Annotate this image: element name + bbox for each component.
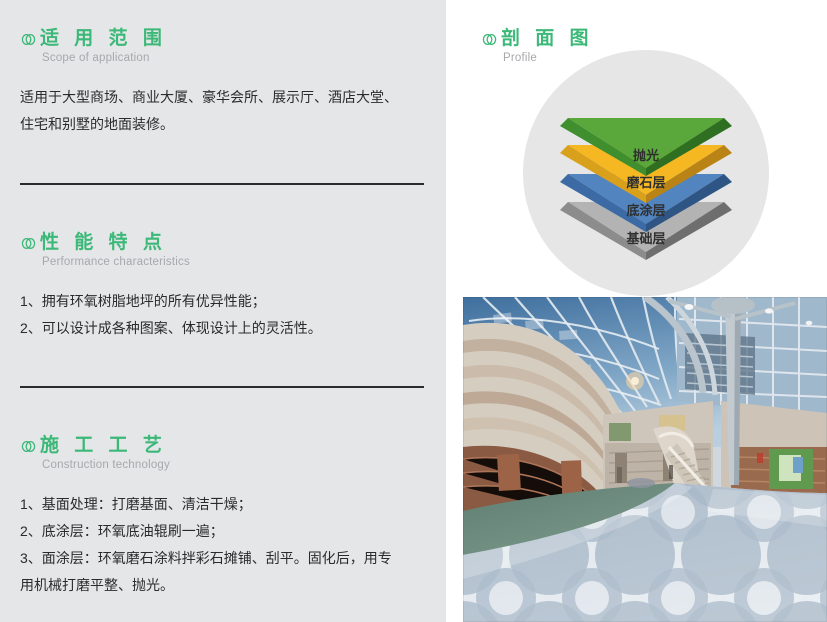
overlapping-rings-icon xyxy=(20,235,37,252)
layer-label: 底涂层 xyxy=(551,204,741,219)
section-subtitle: Construction technology xyxy=(0,459,446,472)
section-scope-of-application: 适 用 范 围 Scope of application 适用于大型商场、商业大… xyxy=(0,28,446,138)
section-divider xyxy=(20,386,424,388)
section-performance-characteristics: 性 能 特 点 Performance characteristics 1、拥有… xyxy=(0,232,446,342)
section-body: 适用于大型商场、商业大厦、豪华会所、展示厅、酒店大堂、 住宅和别墅的地面装修。 xyxy=(0,84,446,138)
body-line: 住宅和别墅的地面装修。 xyxy=(20,111,424,138)
section-divider xyxy=(20,183,424,185)
body-line: 用机械打磨平整、抛光。 xyxy=(20,572,424,599)
section-header: 性 能 特 点 xyxy=(0,232,446,253)
body-line: 1、拥有环氧树脂地坪的所有优异性能； xyxy=(20,288,424,315)
atrium-interior-photo xyxy=(463,297,827,622)
body-line: 2、底涂层：环氧底油辊刷一遍； xyxy=(20,518,424,545)
body-line: 3、面涂层：环氧磨石涂料拌彩石摊铺、刮平。固化后，用专 xyxy=(20,545,424,572)
section-profile: 剖 面 图 Profile xyxy=(481,28,594,65)
section-title: 性 能 特 点 xyxy=(40,232,167,253)
section-title: 适 用 范 围 xyxy=(40,28,167,49)
left-content-panel: 适 用 范 围 Scope of application 适用于大型商场、商业大… xyxy=(0,0,446,622)
layer-stack-diagram: 抛光 磨石层 底涂层 基础层 xyxy=(551,118,741,278)
section-header: 适 用 范 围 xyxy=(0,28,446,49)
section-title: 剖 面 图 xyxy=(501,28,594,49)
section-subtitle: Scope of application xyxy=(0,52,446,65)
body-line: 1、基面处理：打磨基面、清洁干燥； xyxy=(20,491,424,518)
layer-label: 基础层 xyxy=(551,232,741,247)
layer-label: 磨石层 xyxy=(551,176,741,191)
section-subtitle: Profile xyxy=(481,52,594,65)
body-line: 2、可以设计成各种图案、体现设计上的灵活性。 xyxy=(20,315,424,342)
section-header: 施 工 工 艺 xyxy=(0,435,446,456)
overlapping-rings-icon xyxy=(20,31,37,48)
section-title: 施 工 工 艺 xyxy=(40,435,167,456)
overlapping-rings-icon xyxy=(20,438,37,455)
section-body: 1、拥有环氧树脂地坪的所有优异性能； 2、可以设计成各种图案、体现设计上的灵活性… xyxy=(0,288,446,342)
section-construction-technology: 施 工 工 艺 Construction technology 1、基面处理：打… xyxy=(0,435,446,599)
section-subtitle: Performance characteristics xyxy=(0,256,446,269)
overlapping-rings-icon xyxy=(481,31,498,48)
body-line: 适用于大型商场、商业大厦、豪华会所、展示厅、酒店大堂、 xyxy=(20,84,424,111)
section-body: 1、基面处理：打磨基面、清洁干燥； 2、底涂层：环氧底油辊刷一遍； 3、面涂层：… xyxy=(0,491,446,599)
layer-label: 抛光 xyxy=(551,149,741,164)
section-header: 剖 面 图 xyxy=(481,28,594,49)
